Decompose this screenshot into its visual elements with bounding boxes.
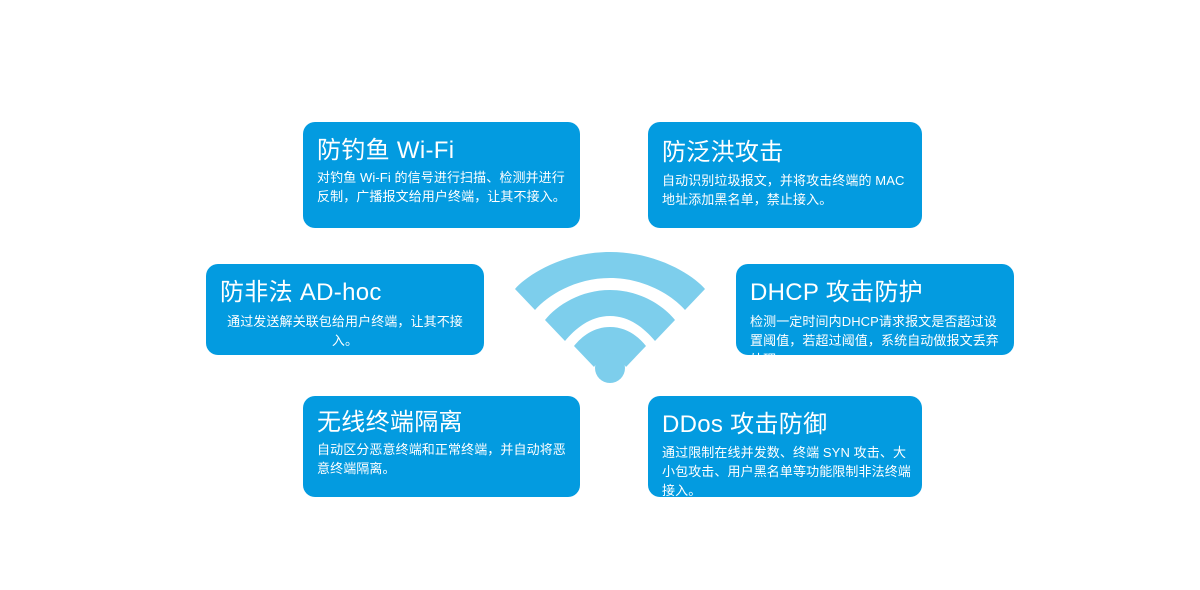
- wifi-dot: [595, 353, 625, 383]
- feature-card-title: 防泛洪攻击: [662, 140, 904, 166]
- feature-card-body: 对钓鱼 Wi-Fi 的信号进行扫描、检测并进行反制，广播报文给用户终端，让其不接…: [317, 168, 567, 206]
- wifi-signal-icon-svg: [515, 248, 705, 383]
- feature-card-title: 防钓鱼 Wi-Fi: [317, 138, 562, 164]
- feature-card-anti-flood-attack[interactable]: 防泛洪攻击 自动识别垃圾报文，并将攻击终端的 MAC 地址添加黑名单，禁止接入。: [648, 122, 922, 228]
- feature-card-title: 防非法 AD-hoc: [220, 280, 466, 306]
- feature-card-dhcp-attack-protection[interactable]: DHCP 攻击防护 检测一定时间内DHCP请求报文是否超过设置阈值，若超过阈值，…: [736, 264, 1014, 355]
- feature-card-anti-illegal-adhoc[interactable]: 防非法 AD-hoc 通过发送解关联包给用户终端，让其不接入。: [206, 264, 484, 355]
- feature-card-title: 无线终端隔离: [317, 410, 562, 436]
- feature-card-title: DHCP 攻击防护: [750, 280, 996, 306]
- feature-card-wireless-terminal-isolation[interactable]: 无线终端隔离 自动区分恶意终端和正常终端，并自动将恶意终端隔离。: [303, 396, 580, 497]
- feature-card-body: 通过限制在线并发数、终端 SYN 攻击、大小包攻击、用户黑名单等功能限制非法终端…: [662, 443, 914, 500]
- feature-card-body: 检测一定时间内DHCP请求报文是否超过设置阈值，若超过阈值，系统自动做报文丢弃处…: [750, 312, 1008, 369]
- feature-card-body: 自动识别垃圾报文，并将攻击终端的 MAC 地址添加黑名单，禁止接入。: [662, 171, 910, 209]
- feature-card-ddos-attack-defense[interactable]: DDos 攻击防御 通过限制在线并发数、终端 SYN 攻击、大小包攻击、用户黑名…: [648, 396, 922, 497]
- wifi-signal-icon: [515, 248, 705, 383]
- infographic-canvas: 防钓鱼 Wi-Fi 对钓鱼 Wi-Fi 的信号进行扫描、检测并进行反制，广播报文…: [0, 0, 1200, 590]
- feature-card-anti-phishing-wifi[interactable]: 防钓鱼 Wi-Fi 对钓鱼 Wi-Fi 的信号进行扫描、检测并进行反制，广播报文…: [303, 122, 580, 228]
- feature-card-body: 通过发送解关联包给用户终端，让其不接入。: [220, 312, 470, 350]
- feature-card-body: 自动区分恶意终端和正常终端，并自动将恶意终端隔离。: [317, 440, 567, 478]
- feature-card-title: DDos 攻击防御: [662, 412, 904, 438]
